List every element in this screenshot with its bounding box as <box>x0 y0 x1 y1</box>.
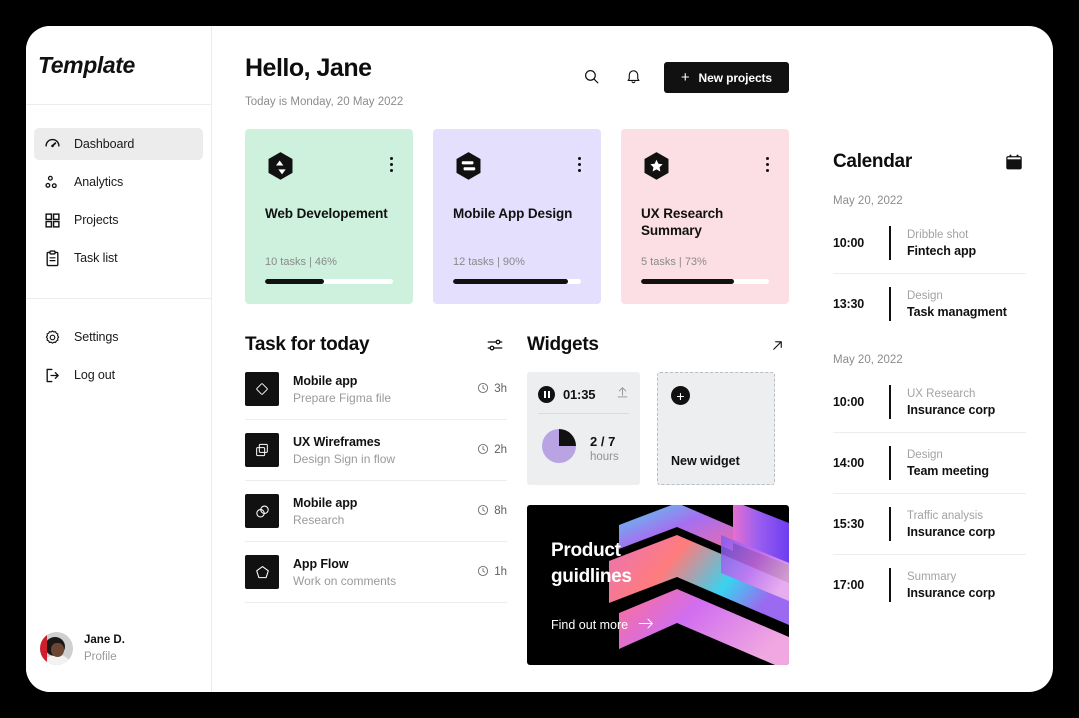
card-header <box>641 151 769 185</box>
clipboard-icon <box>44 250 61 267</box>
clock-icon <box>477 565 489 580</box>
card-title: Mobile App Design <box>453 206 581 223</box>
lower-section: Task for today <box>245 331 789 665</box>
avatar <box>40 632 73 665</box>
widgets-title: Widgets <box>527 334 599 356</box>
calendar-event-row[interactable]: 13:30 Design Task managment <box>833 274 1026 334</box>
clock-icon <box>477 443 489 458</box>
sidebar-item-projects[interactable]: Projects <box>34 204 203 236</box>
event-time: 14:00 <box>833 456 889 470</box>
new-projects-button[interactable]: + New projects <box>664 62 789 93</box>
top-actions: + New projects <box>580 54 789 93</box>
plus-circle-icon[interactable]: + <box>671 386 690 405</box>
calendar-event-row[interactable]: 15:30 Traffic analysis Insurance corp <box>833 494 1026 555</box>
event-type: Design <box>907 290 1007 302</box>
copy-icon <box>245 433 279 467</box>
promo-line1: Product <box>551 538 632 564</box>
donut-chart <box>538 425 580 472</box>
event-name: Team meeting <box>907 464 989 478</box>
profile-name: Jane D. <box>84 632 125 649</box>
task-row[interactable]: UX Wireframes Design Sign in flow 2h <box>245 420 507 481</box>
hexagon-star-icon <box>641 151 672 185</box>
card-title: UX Research Summary <box>641 206 769 240</box>
sidebar-item-analytics[interactable]: Analytics <box>34 166 203 198</box>
sidebar: Template Dashboard <box>26 26 212 692</box>
event-name: Insurance corp <box>907 525 995 539</box>
event-name: Task managment <box>907 305 1007 319</box>
event-accent-bar <box>889 507 891 541</box>
arrow-right-icon <box>638 617 654 633</box>
card-meta: 10 tasks | 46% <box>265 256 393 268</box>
task-name: UX Wireframes <box>293 435 463 449</box>
event-time: 10:00 <box>833 395 889 409</box>
arrow-up-right-icon[interactable] <box>765 333 789 357</box>
promo-artwork <box>609 505 789 665</box>
card-menu-button[interactable] <box>390 151 393 172</box>
event-name: Insurance corp <box>907 403 995 417</box>
task-row[interactable]: Mobile app Research 8h <box>245 481 507 542</box>
promo-line2: guidlines <box>551 564 632 590</box>
card-header <box>453 151 581 185</box>
task-desc: Work on comments <box>293 574 463 588</box>
project-card-web-developement[interactable]: Web Developement 10 tasks | 46% <box>245 129 413 304</box>
card-title: Web Developement <box>265 206 393 223</box>
tasks-title: Task for today <box>245 334 369 356</box>
task-text: Mobile app Research <box>293 496 463 527</box>
promo-text: Product guidlines <box>551 538 632 589</box>
widgets-row: 01:35 <box>527 372 789 485</box>
app-window: Template Dashboard <box>26 26 1053 692</box>
sidebar-item-label: Dashboard <box>74 137 134 151</box>
event-texts: UX Research Insurance corp <box>907 388 995 417</box>
sidebar-item-task-list[interactable]: Task list <box>34 242 203 274</box>
card-meta: 12 tasks | 90% <box>453 256 581 268</box>
event-accent-bar <box>889 568 891 602</box>
project-cards-row: Web Developement 10 tasks | 46% <box>245 129 789 304</box>
event-type: Dribble shot <box>907 229 976 241</box>
gear-icon <box>44 329 61 346</box>
promo-banner[interactable]: Product guidlines Find out more <box>527 505 789 665</box>
new-widget-label: New widget <box>671 454 761 468</box>
calendar-icon[interactable] <box>1002 150 1026 174</box>
task-name: App Flow <box>293 557 463 571</box>
diamond-icon <box>245 372 279 406</box>
task-name: Mobile app <box>293 374 463 388</box>
clock-icon <box>477 504 489 519</box>
main-area: Hello, Jane Today is Monday, 20 May 2022 <box>212 26 1053 692</box>
calendar-panel: Calendar May 20, 2022 10:00 Dribble s <box>813 26 1053 692</box>
widgets-header: Widgets <box>527 331 789 359</box>
task-text: Mobile app Prepare Figma file <box>293 374 463 405</box>
sidebar-item-label: Log out <box>74 368 115 382</box>
event-texts: Design Team meeting <box>907 449 989 478</box>
plus-icon: + <box>681 70 690 85</box>
task-duration: 3h <box>477 382 507 397</box>
hours-label: hours <box>590 451 619 463</box>
sliders-icon[interactable] <box>483 333 507 357</box>
card-menu-button[interactable] <box>766 151 769 172</box>
hours-value: 2 / 7 <box>590 434 619 449</box>
timer-top-row: 01:35 <box>538 385 629 403</box>
projects-grid-icon <box>44 212 61 229</box>
divider <box>538 413 629 414</box>
pause-icon[interactable] <box>538 386 555 403</box>
today-date-label: Today is Monday, 20 May 2022 <box>245 96 403 108</box>
promo-cta-label: Find out more <box>551 618 628 632</box>
event-type: Traffic analysis <box>907 510 995 522</box>
task-duration-label: 8h <box>494 505 507 517</box>
task-duration-label: 1h <box>494 566 507 578</box>
new-widget-card[interactable]: + New widget <box>657 372 775 485</box>
task-row[interactable]: App Flow Work on comments 1h <box>245 542 507 603</box>
event-type: UX Research <box>907 388 995 400</box>
greeting-block: Hello, Jane Today is Monday, 20 May 2022 <box>245 54 403 108</box>
task-duration: 8h <box>477 504 507 519</box>
task-duration-label: 3h <box>494 383 507 395</box>
timer-value: 01:35 <box>563 387 595 402</box>
sidebar-spacer <box>26 397 211 632</box>
event-texts: Dribble shot Fintech app <box>907 229 976 258</box>
pentagon-icon <box>245 555 279 589</box>
task-desc: Research <box>293 513 463 527</box>
task-row[interactable]: Mobile app Prepare Figma file 3h <box>245 359 507 420</box>
brand-logo: Template <box>38 52 135 79</box>
event-accent-bar <box>889 385 891 419</box>
task-duration: 1h <box>477 565 507 580</box>
sidebar-item-label: Settings <box>74 330 118 344</box>
hexagon-triangles-icon <box>265 151 296 185</box>
hours-block: 2 / 7 hours <box>590 434 619 463</box>
dashboard-icon <box>44 136 61 153</box>
event-name: Fintech app <box>907 244 976 258</box>
task-text: UX Wireframes Design Sign in flow <box>293 435 463 466</box>
profile-block[interactable]: Jane D. Profile <box>26 632 211 693</box>
tasks-header: Task for today <box>245 331 507 359</box>
sidebar-item-label: Task list <box>74 251 118 265</box>
arrow-up-icon[interactable] <box>616 385 629 403</box>
page-title: Hello, Jane <box>245 54 403 83</box>
task-desc: Prepare Figma file <box>293 391 463 405</box>
event-time: 10:00 <box>833 236 889 250</box>
sidebar-item-label: Projects <box>74 213 118 227</box>
hexagon-bars-icon <box>453 151 484 185</box>
progress-bar <box>453 279 581 284</box>
progress-bar <box>641 279 769 284</box>
event-accent-bar <box>889 287 891 321</box>
progress-bar <box>265 279 393 284</box>
calendar-title: Calendar <box>833 151 912 173</box>
search-button[interactable] <box>580 66 604 90</box>
event-time: 17:00 <box>833 578 889 592</box>
sidebar-item-settings[interactable]: Settings <box>34 321 203 353</box>
calendar-event-row[interactable]: 10:00 UX Research Insurance corp <box>833 372 1026 433</box>
topbar: Hello, Jane Today is Monday, 20 May 2022 <box>245 54 789 108</box>
calendar-event-row[interactable]: 10:00 Dribble shot Fintech app <box>833 213 1026 274</box>
calendar-date-label: May 20, 2022 <box>833 354 1026 366</box>
new-projects-label: New projects <box>699 71 773 85</box>
task-name: Mobile app <box>293 496 463 510</box>
event-type: Summary <box>907 571 995 583</box>
event-texts: Design Task managment <box>907 290 1007 319</box>
task-duration: 2h <box>477 443 507 458</box>
promo-cta[interactable]: Find out more <box>551 617 654 633</box>
sidebar-item-dashboard[interactable]: Dashboard <box>34 128 203 160</box>
content-column: Hello, Jane Today is Monday, 20 May 2022 <box>212 26 813 692</box>
event-type: Design <box>907 449 989 461</box>
event-texts: Summary Insurance corp <box>907 571 995 600</box>
task-text: App Flow Work on comments <box>293 557 463 588</box>
timer-widget[interactable]: 01:35 <box>527 372 640 485</box>
card-menu-button[interactable] <box>578 151 581 172</box>
project-card-mobile-app-design[interactable]: Mobile App Design 12 tasks | 90% <box>433 129 601 304</box>
card-header <box>265 151 393 185</box>
links-icon <box>245 494 279 528</box>
notifications-button[interactable] <box>622 66 646 90</box>
clock-icon <box>477 382 489 397</box>
search-icon <box>583 68 600 88</box>
event-time: 13:30 <box>833 297 889 311</box>
profile-sublabel: Profile <box>84 649 125 666</box>
sidebar-item-logout[interactable]: Log out <box>34 359 203 391</box>
widgets-column: Widgets 01:35 <box>527 331 789 665</box>
timer-bottom-row: 2 / 7 hours <box>538 425 629 472</box>
project-card-ux-research-summary[interactable]: UX Research Summary 5 tasks | 73% <box>621 129 789 304</box>
calendar-date-label: May 20, 2022 <box>833 195 1026 207</box>
bell-icon <box>625 68 642 88</box>
calendar-header: Calendar <box>833 150 1026 174</box>
analytics-icon <box>44 174 61 191</box>
event-name: Insurance corp <box>907 586 995 600</box>
profile-texts: Jane D. Profile <box>84 632 125 667</box>
task-duration-label: 2h <box>494 444 507 456</box>
sidebar-secondary-nav: Settings Log out <box>26 298 211 397</box>
sidebar-primary-nav: Dashboard Analytics <box>26 105 211 280</box>
calendar-event-row[interactable]: 14:00 Design Team meeting <box>833 433 1026 494</box>
task-desc: Design Sign in flow <box>293 452 463 466</box>
card-meta: 5 tasks | 73% <box>641 256 769 268</box>
tasks-column: Task for today <box>245 331 507 665</box>
event-accent-bar <box>889 226 891 260</box>
event-time: 15:30 <box>833 517 889 531</box>
sidebar-item-label: Analytics <box>74 175 123 189</box>
event-texts: Traffic analysis Insurance corp <box>907 510 995 539</box>
logout-icon <box>44 367 61 384</box>
event-accent-bar <box>889 446 891 480</box>
brand-header: Template <box>26 26 211 105</box>
calendar-event-row[interactable]: 17:00 Summary Insurance corp <box>833 555 1026 615</box>
